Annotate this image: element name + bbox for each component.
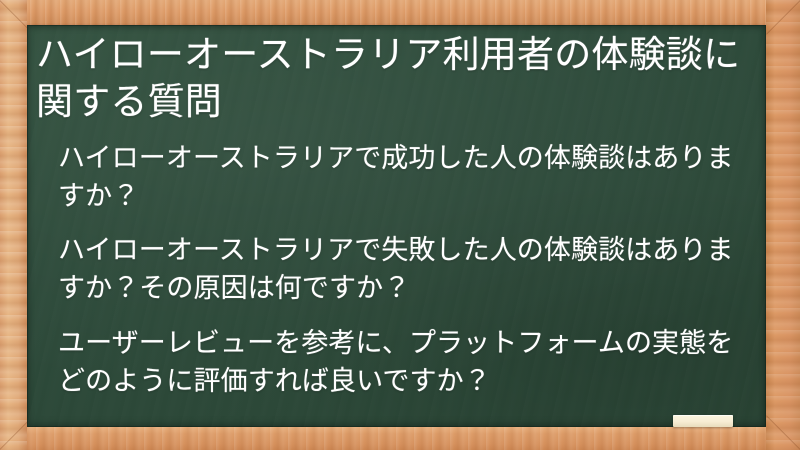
frame-rail-right xyxy=(766,0,800,450)
chalkboard-surface: ハイローオーストラリア利用者の体験談に関する質問 ハイローオーストラリアで成功し… xyxy=(27,25,766,427)
list-item: ユーザーレビューを参考に、プラットフォームの実態をどのように評価すれば良いですか… xyxy=(58,325,752,401)
chalk-stick-icon xyxy=(673,415,733,427)
question-list: ハイローオーストラリアで成功した人の体験談はありますか？ ハイローオーストラリア… xyxy=(36,140,752,401)
frame-rail-bottom xyxy=(0,427,800,450)
chalkboard-slide: ハイローオーストラリア利用者の体験談に関する質問 ハイローオーストラリアで成功し… xyxy=(0,0,800,450)
page-title: ハイローオーストラリア利用者の体験談に関する質問 xyxy=(36,31,752,126)
board-content: ハイローオーストラリア利用者の体験談に関する質問 ハイローオーストラリアで成功し… xyxy=(27,25,766,401)
list-item: ハイローオーストラリアで失敗した人の体験談はありますか？その原因は何ですか？ xyxy=(58,232,752,308)
list-item: ハイローオーストラリアで成功した人の体験談はありますか？ xyxy=(58,140,752,216)
frame-rail-left xyxy=(0,0,27,450)
frame-rail-top xyxy=(0,0,800,26)
